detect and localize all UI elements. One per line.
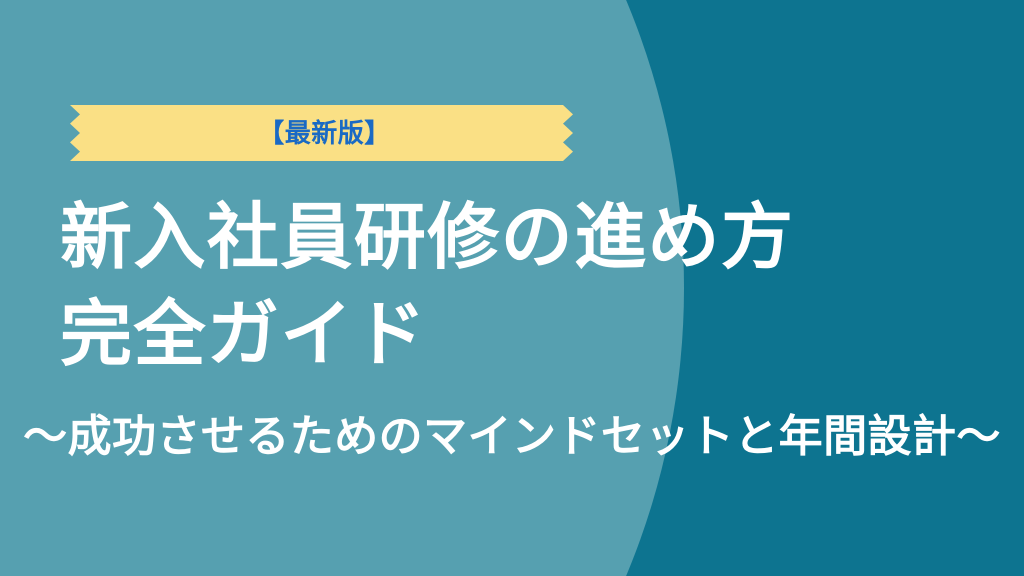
headline-block: 新入社員研修の進め方 完全ガイド <box>0 190 1024 384</box>
ribbon-badge-label: 【最新版】 <box>70 105 573 161</box>
title-slide: 【最新版】 新入社員研修の進め方 完全ガイド 〜成功させるためのマインドセットと… <box>0 0 1024 576</box>
title-line-2: 完全ガイド <box>0 287 1024 384</box>
title-line-1: 新入社員研修の進め方 <box>0 190 1024 287</box>
ribbon-banner: 【最新版】 <box>70 105 573 161</box>
subtitle-text: 〜成功させるためのマインドセットと年間設計〜 <box>0 408 1024 465</box>
